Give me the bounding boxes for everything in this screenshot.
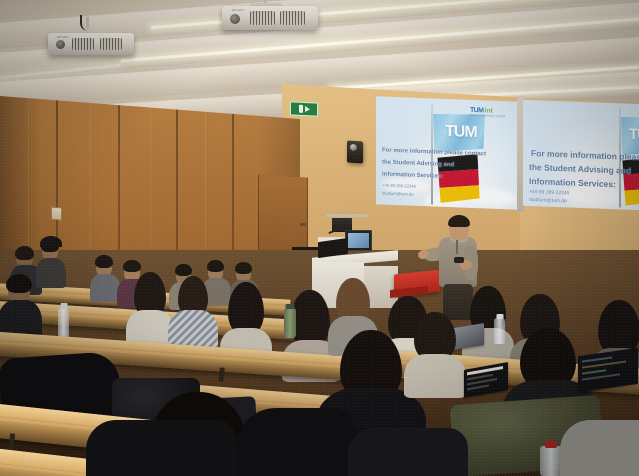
water-bottle: [58, 308, 69, 338]
audience-member-foreground-body: [348, 428, 468, 476]
projection-screen-left: TUM TUM int TUM INTERNATIONAL CENTER For…: [376, 96, 518, 209]
projector-brand-label: EPSON: [57, 35, 69, 39]
person-hair: [6, 274, 32, 293]
lectern-monitor: [345, 230, 372, 251]
exit-arrow-icon: [305, 106, 310, 112]
person-hair: [175, 264, 192, 276]
slide-phone: +49 89 289 22245: [382, 183, 416, 191]
presentation-clicker: [454, 257, 464, 263]
projector-vent: [100, 38, 122, 50]
bottle-cap-red: [545, 441, 557, 448]
screen-surface: TUM For more information pleas the Stude…: [523, 100, 639, 211]
presenter-hair: [448, 215, 470, 227]
flag-band-gold: [624, 188, 639, 206]
person-hair: [123, 260, 141, 272]
light-switch[interactable]: [51, 207, 62, 221]
person-hair: [228, 282, 264, 334]
projector-lens: [230, 14, 240, 24]
projector-body: EPSON: [48, 33, 134, 55]
audience-member-foreground-body: [236, 408, 356, 476]
exit-sign: [290, 101, 318, 116]
projector-left: EPSON: [48, 33, 134, 55]
slide-tum-flag-logo: TUM: [445, 123, 477, 142]
bottle-cap: [496, 314, 503, 319]
bottle-cap: [60, 303, 67, 309]
slide-email: studium@tum.de: [529, 197, 567, 206]
person-cap: [40, 236, 62, 247]
lectern-shelf: [326, 214, 368, 217]
presenter-zipper: [456, 240, 458, 254]
green-thermos: [284, 308, 296, 338]
projector-cable: [80, 15, 92, 31]
person-hair: [520, 328, 576, 388]
person-hair: [414, 312, 456, 360]
presenter-legs: [443, 284, 473, 320]
person-body: [90, 274, 120, 302]
person-hair: [598, 300, 639, 354]
person-body: [404, 354, 466, 398]
wall-camera-icon: [347, 141, 363, 164]
person-hair: [290, 290, 330, 346]
audience-member-foreground-grey: [560, 420, 639, 476]
projector-vent: [280, 11, 305, 24]
person-hair: [235, 262, 252, 274]
audience-member-foreground-body: [86, 420, 236, 476]
slide-email: studium@tum.de: [382, 191, 414, 199]
slide-tum-flag-logo: TUM: [629, 126, 639, 144]
projector-right: EPSON: [222, 6, 318, 30]
screen-surface: TUM TUM int TUM INTERNATIONAL CENTER For…: [376, 96, 518, 209]
lecture-hall-photo: EPSON EPSON: [0, 0, 639, 476]
person-body: [36, 258, 66, 288]
projector-brand-label: EPSON: [232, 8, 244, 12]
water-bottle: [494, 318, 505, 344]
slide-tum-int-logo: TUM int TUM INTERNATIONAL CENTER: [470, 107, 493, 115]
projector-lens: [56, 40, 65, 49]
person-hair: [95, 255, 113, 268]
person-hair: [207, 260, 224, 272]
projector-vent: [72, 38, 94, 50]
thermos-cap: [286, 304, 295, 309]
projector-vent: [250, 11, 275, 24]
projector-body: EPSON: [222, 6, 318, 30]
bench-bracket: [219, 367, 225, 381]
projection-screen-right: TUM For more information pleas the Stude…: [523, 100, 639, 211]
lectern-monitor-screen: [348, 233, 369, 248]
water-bottle: [540, 446, 562, 476]
door-handle[interactable]: [300, 223, 306, 226]
person-hair: [15, 246, 34, 260]
camera-lens-icon: [350, 144, 357, 151]
exit-running-man-icon: [299, 105, 303, 113]
